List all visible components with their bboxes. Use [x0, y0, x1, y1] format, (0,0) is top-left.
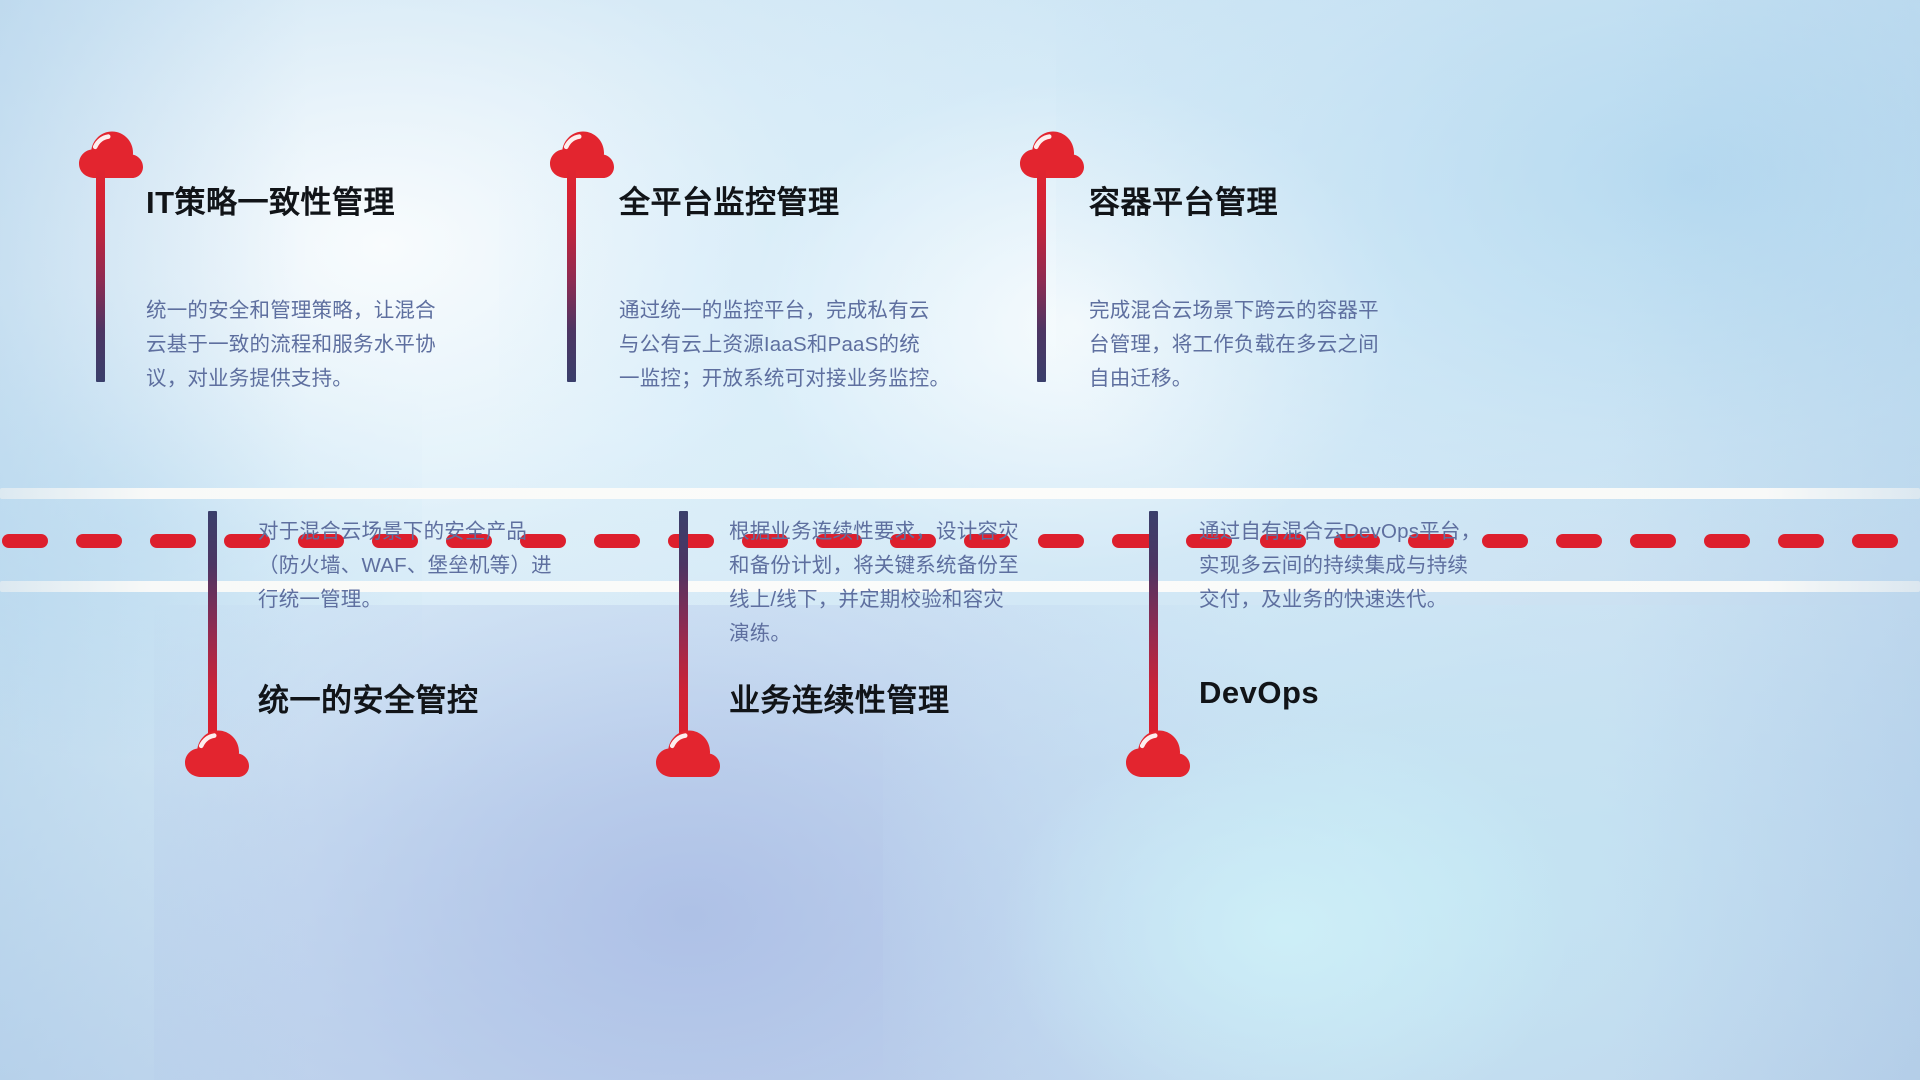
cloud-icon	[655, 728, 721, 778]
section-heading: 全平台监控管理	[619, 177, 840, 222]
section-heading: 容器平台管理	[1089, 177, 1278, 222]
stem-bar	[1037, 170, 1046, 382]
section-heading: IT策略一致性管理	[146, 177, 395, 222]
stem-bar	[567, 170, 576, 382]
cloud-icon	[1125, 728, 1191, 778]
section-body: 通过统一的监控平台，完成私有云 与公有云上资源IaaS和PaaS的统 一监控；开…	[619, 294, 1019, 396]
section-body: 根据业务连续性要求，设计容灾 和备份计划，将关键系统备份至 线上/线下，并定期校…	[729, 515, 1129, 651]
section-body: 通过自有混合云DevOps平台， 实现多云间的持续集成与持续 交付，及业务的快速…	[1199, 515, 1579, 617]
divider-rail-top	[0, 488, 1920, 499]
cloud-icon	[549, 129, 615, 179]
section-body: 对于混合云场景下的安全产品 （防火墙、WAF、堡垒机等）进 行统一管理。	[258, 515, 638, 617]
stem-bar	[1149, 511, 1158, 736]
divider-dash	[76, 534, 122, 548]
divider-dash	[150, 534, 196, 548]
cloud-icon	[1019, 129, 1085, 179]
divider-dash	[1630, 534, 1676, 548]
divider-dash	[1704, 534, 1750, 548]
section-heading: 统一的安全管控	[258, 675, 479, 720]
stem-bar	[679, 511, 688, 736]
section-heading: DevOps	[1199, 675, 1319, 711]
cloud-icon	[78, 129, 144, 179]
section-body: 统一的安全和管理策略，让混合 云基于一致的流程和服务水平协 议，对业务提供支持。	[146, 294, 526, 396]
divider-dash	[1852, 534, 1898, 548]
divider-dash	[2, 534, 48, 548]
section-body: 完成混合云场景下跨云的容器平 台管理，将工作负载在多云之间 自由迁移。	[1089, 294, 1469, 396]
cloud-icon	[184, 728, 250, 778]
section-heading: 业务连续性管理	[729, 675, 950, 720]
stem-bar	[208, 511, 217, 736]
divider-dash	[1778, 534, 1824, 548]
divider-dash	[668, 534, 714, 548]
stem-bar	[96, 170, 105, 382]
